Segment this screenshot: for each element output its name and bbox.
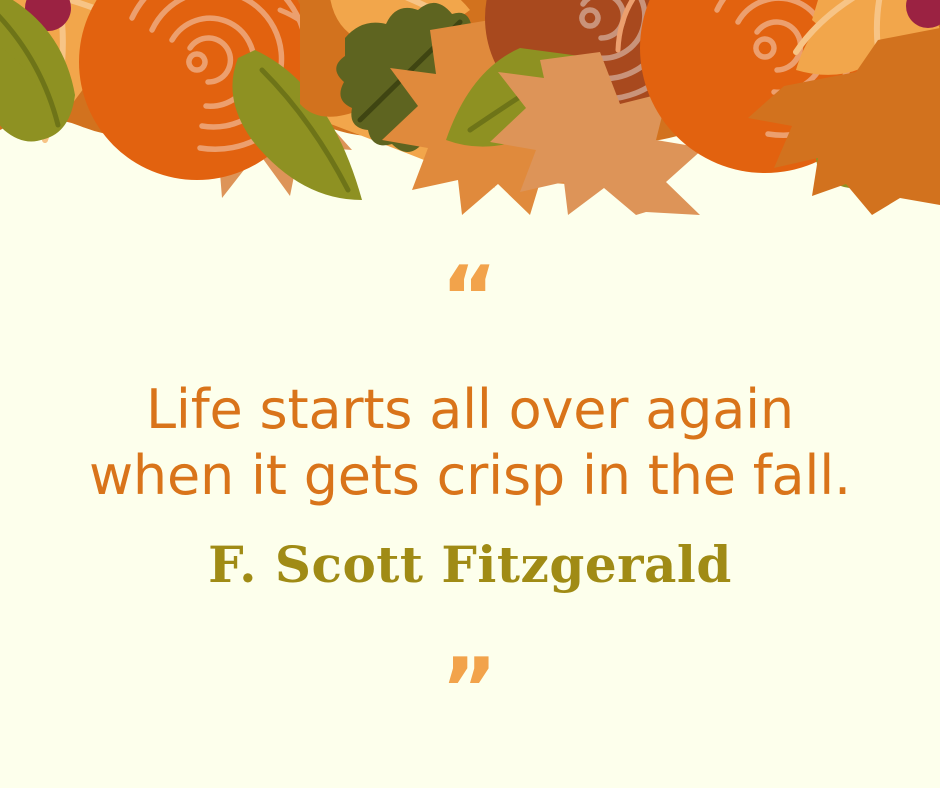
quote-line-2: when it gets crisp in the fall. bbox=[0, 443, 940, 509]
quote-author: F. Scott Fitzgerald bbox=[0, 535, 940, 595]
quote-block: “ Life starts all over again when it get… bbox=[0, 255, 940, 733]
quote-text: Life starts all over again when it gets … bbox=[0, 377, 940, 509]
quote-line-1: Life starts all over again bbox=[0, 377, 940, 443]
quote-close-mark-icon: ” bbox=[0, 647, 940, 733]
floral-border-illustration bbox=[0, 0, 940, 215]
quote-open-mark-icon: “ bbox=[0, 255, 940, 331]
autumn-floral-border bbox=[0, 0, 940, 215]
quote-card: “ Life starts all over again when it get… bbox=[0, 0, 940, 788]
